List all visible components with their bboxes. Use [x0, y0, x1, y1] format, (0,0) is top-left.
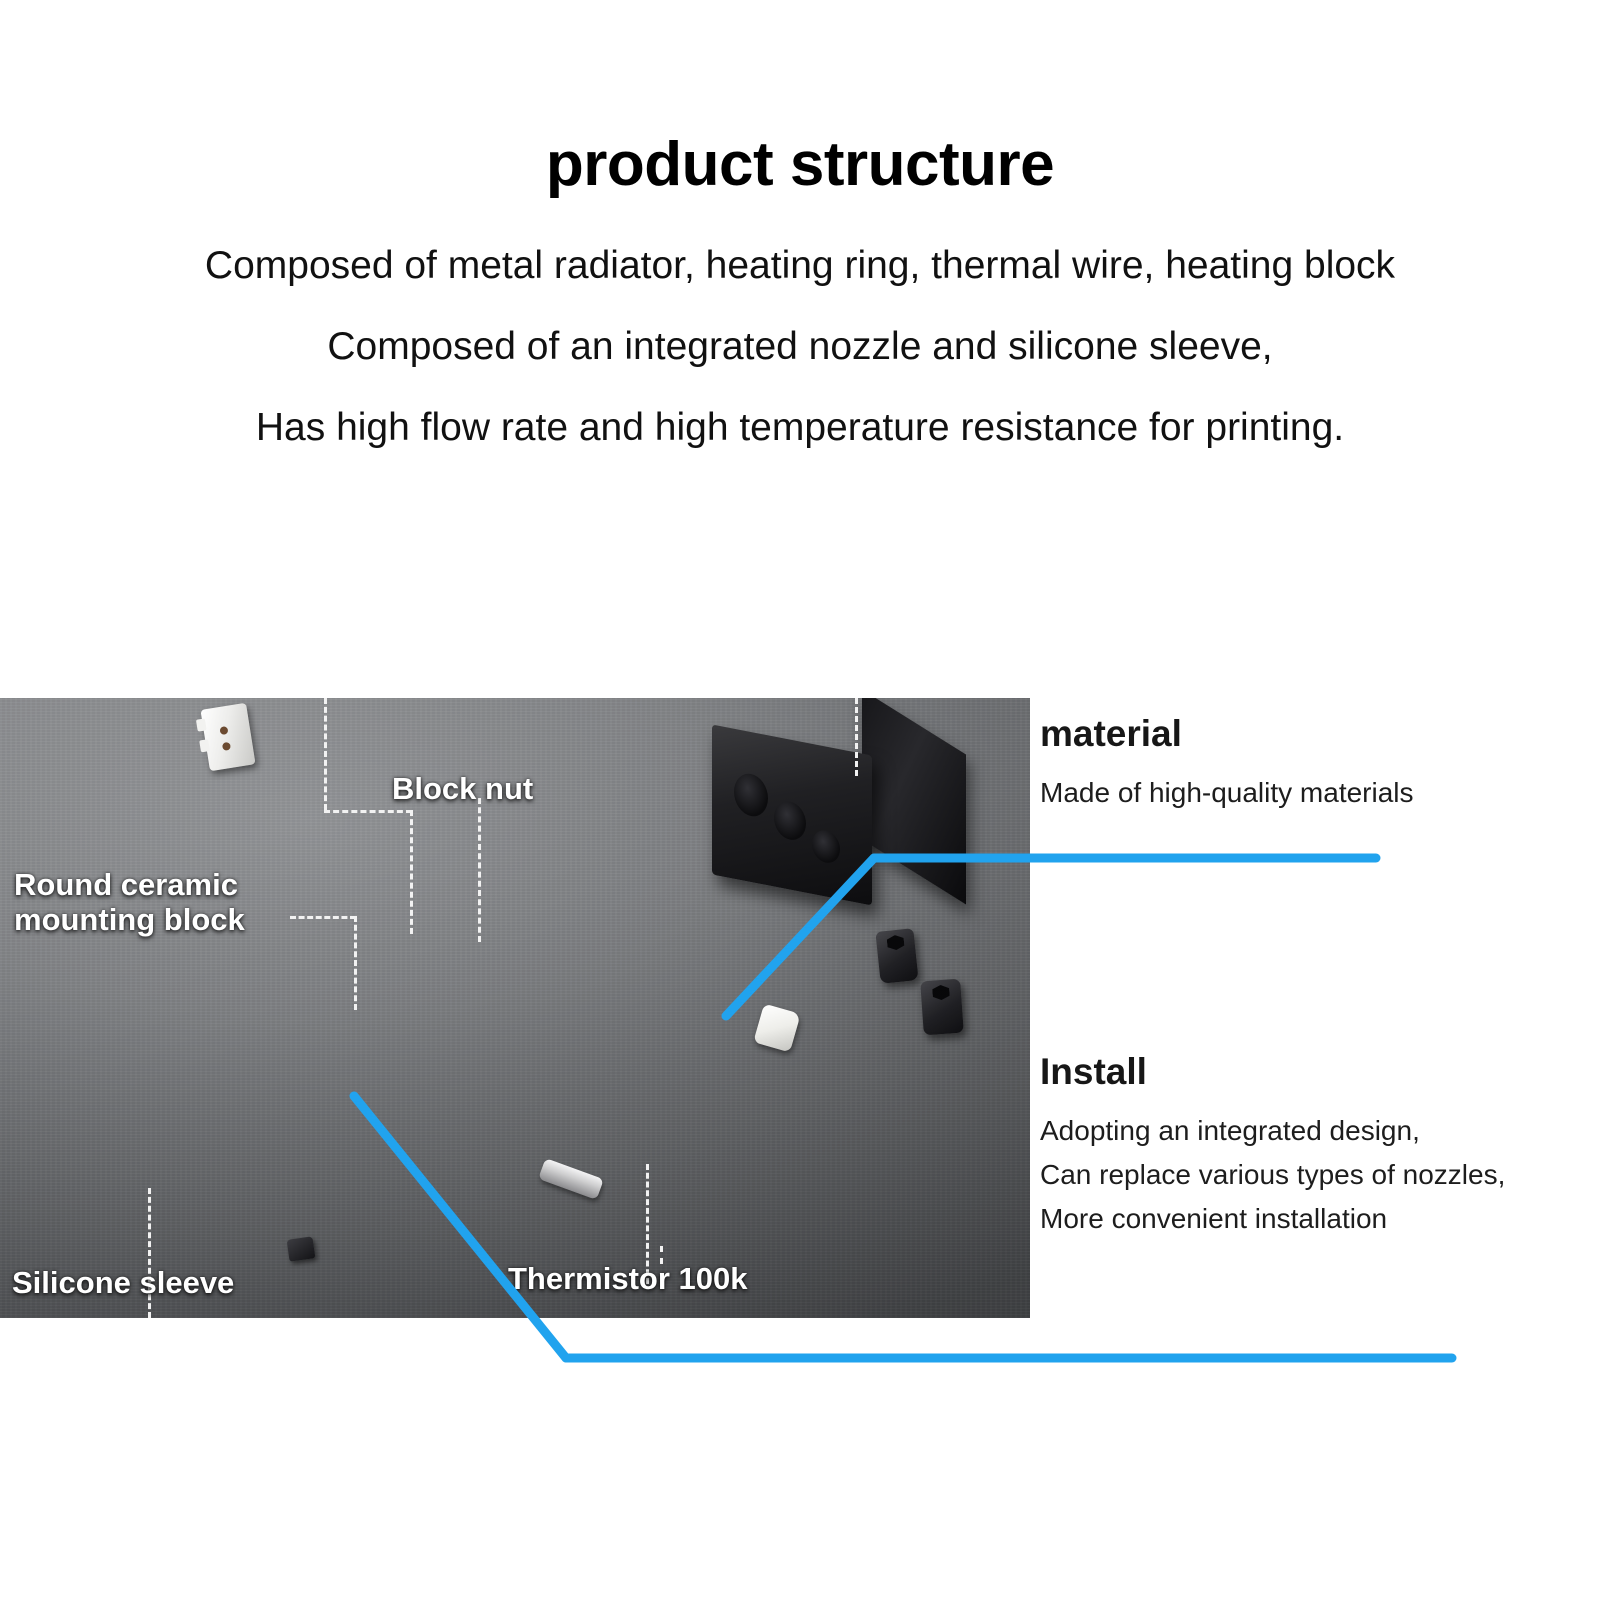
jst-notch-top: [196, 718, 207, 731]
grub-nut-1: [875, 928, 918, 984]
info-material-line-1: Made of high-quality materials: [1040, 771, 1580, 815]
photo-label-thermistor: Thermistor 100k: [508, 1262, 748, 1297]
heatsink-front-face: [712, 724, 872, 905]
heatsink-hole-3: [812, 828, 840, 865]
grub-nut-2: [920, 979, 964, 1036]
dash-ceramic-elbow: [290, 916, 356, 919]
info-install-line-3: More convenient installation: [1040, 1197, 1600, 1241]
small-black-clip: [287, 1236, 316, 1261]
jst-notch-bottom: [199, 739, 210, 752]
product-photo: Round ceramic mounting block Block nut S…: [0, 698, 1030, 1318]
photo-label-silicone-sleeve: Silicone sleeve: [12, 1266, 234, 1301]
photo-label-block-nut: Block nut: [392, 772, 533, 807]
jst-pin-hole-2: [222, 742, 231, 751]
jst-connector: [200, 703, 255, 771]
dash-blocknut-to-part: [478, 798, 481, 942]
header: product structure Composed of metal radi…: [0, 0, 1600, 450]
dash-heatsink: [855, 698, 858, 776]
info-install-line-1: Adopting an integrated design,: [1040, 1109, 1600, 1153]
dash-ceramic-drop: [354, 916, 357, 1010]
photo-label-round-ceramic-mounting-block: Round ceramic mounting block: [14, 868, 245, 937]
jst-pin-hole-1: [219, 726, 228, 735]
info-install-heading: Install: [1040, 1052, 1600, 1093]
thermistor-metal-ferrule: [538, 1158, 604, 1200]
header-subline-2: Composed of an integrated nozzle and sil…: [0, 326, 1600, 369]
thermistor-head: [753, 1004, 801, 1053]
info-material-heading: material: [1040, 714, 1580, 755]
grub-nut-2-hex: [932, 984, 950, 1000]
heatsink-hole-1: [734, 771, 768, 820]
infographic-page: product structure Composed of metal radi…: [0, 0, 1600, 1600]
dash-blocknut-top: [324, 698, 327, 810]
info-block-install: Install Adopting an integrated design, C…: [1040, 1052, 1600, 1241]
info-install-line-2: Can replace various types of nozzles,: [1040, 1153, 1600, 1197]
grub-nut-1-hex: [886, 934, 904, 951]
heatsink-side-face: [862, 698, 966, 904]
info-block-material: material Made of high-quality materials: [1040, 714, 1580, 815]
dash-blocknut-drop: [410, 810, 413, 934]
heatsink-hole-2: [774, 799, 806, 843]
header-subline-1: Composed of metal radiator, heating ring…: [0, 245, 1600, 288]
page-title: product structure: [0, 132, 1600, 197]
header-subline-3: Has high flow rate and high temperature …: [0, 407, 1600, 450]
dash-blocknut-elbow: [324, 810, 412, 813]
